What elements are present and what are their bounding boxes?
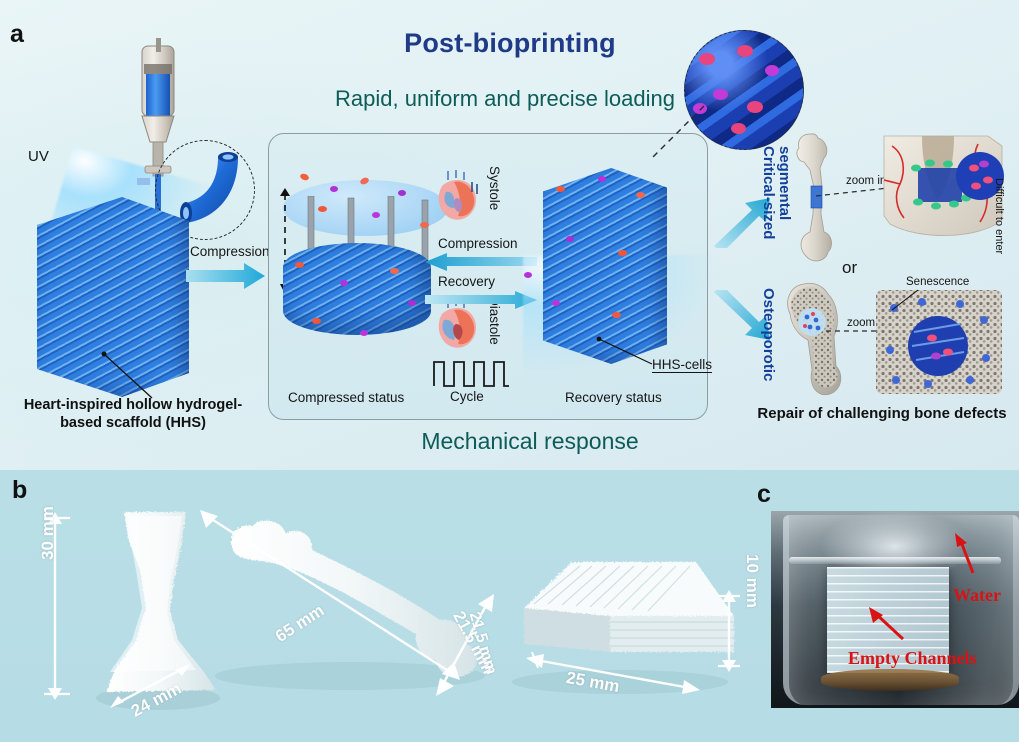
osteoporotic-label: Osteoporotic [760, 288, 777, 381]
uv-label: UV [28, 148, 49, 165]
block-height-dimension-arrow [716, 588, 742, 674]
zoom-inset-connector-dashed [648, 102, 708, 164]
block-height-measure: 10 mm [742, 554, 762, 608]
panel-c-photo [771, 511, 1019, 708]
senescence-leader-line [888, 288, 922, 314]
mechanism-recovery-label: Recovery [438, 274, 495, 289]
panel-label-b: b [12, 478, 27, 503]
critical-sized-label-line-1: Critical-sized [760, 146, 777, 239]
mechanism-compression-label: Compression [438, 236, 518, 251]
difficult-to-enter-label: Difficult to enter [993, 178, 1005, 254]
panel-label-a: a [10, 22, 24, 47]
scaffold-caption: Heart-inspired hollow hydrogel- based sc… [8, 396, 258, 432]
recovery-right-arrow-icon [425, 291, 537, 309]
scaffold-caption-line-1: Heart-inspired hollow hydrogel- [24, 397, 242, 413]
compression-arrow-label: Compression [190, 244, 270, 259]
cycle-square-wave-icon [432, 358, 510, 388]
recovery-status-label: Recovery status [565, 390, 662, 405]
water-pointer-arrow [947, 533, 981, 575]
cycle-label: Cycle [450, 389, 484, 404]
panel-label-c: c [757, 482, 771, 507]
hhs-cells-label: HHS-cells [652, 357, 712, 372]
recovery-scaffold [543, 168, 667, 364]
applications-caption: Repair of challenging bone defects [745, 405, 1019, 422]
empty-channels-pointer-arrow [863, 607, 907, 643]
scaffold-caption-line-2: based scaffold (HHS) [60, 415, 206, 431]
senescence-label: Senescence [906, 276, 969, 288]
compression-arrow-icon [186, 262, 266, 290]
segmental-defect-illustration [878, 128, 1008, 253]
water-label: Water [953, 585, 1001, 606]
compressed-status-label: Compressed status [288, 390, 404, 405]
compression-left-arrow-icon [425, 253, 537, 271]
heart-systole-icon [432, 168, 484, 224]
mechanical-response-heading: Mechanical response [380, 428, 680, 455]
figure-title: Post-bioprinting [330, 28, 690, 59]
figure-root: a Post-bioprinting Rapid, uniform and pr… [0, 0, 1019, 742]
compressed-scaffold [283, 243, 431, 335]
empty-channels-label: Empty Channels [848, 648, 977, 669]
systole-label: Systole [487, 166, 502, 210]
tibia-height-measure: 30 mm [38, 506, 58, 560]
coin-weight [821, 669, 959, 691]
